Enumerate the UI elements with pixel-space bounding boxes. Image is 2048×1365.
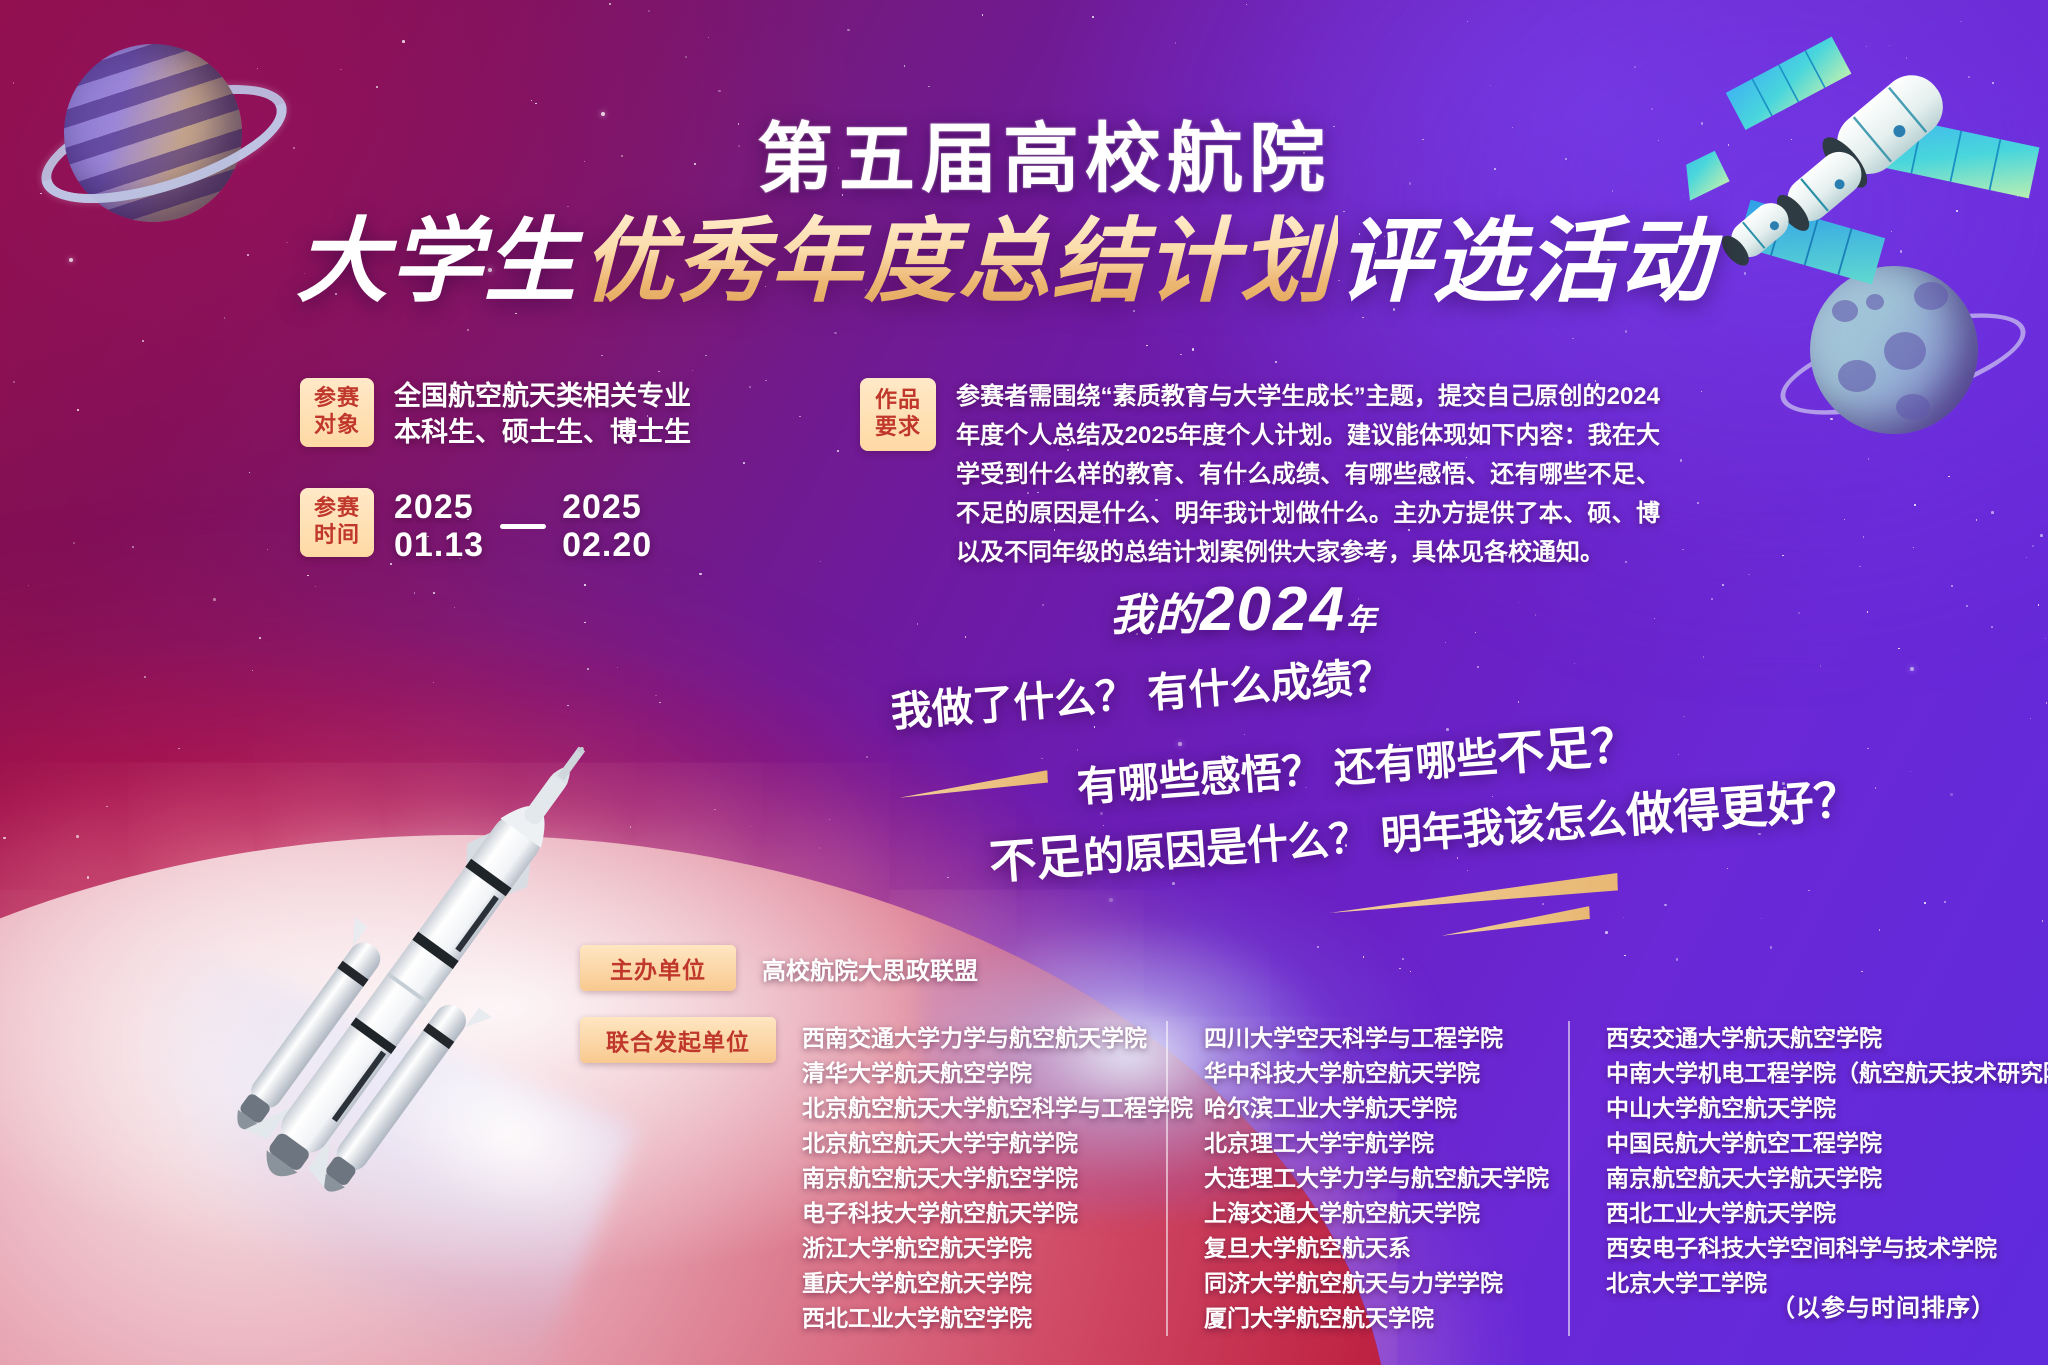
university-item: 中山大学航空航天学院: [1606, 1091, 2016, 1126]
requirement-row: 作品 要求 参赛者需围绕“素质教育与大学生成长”主题，提交自己原创的2024年度…: [860, 378, 1660, 572]
year-prefix: 我的: [1110, 591, 1200, 640]
university-column-2: 四川大学空天科学与工程学院华中科技大学航空航天学院哈尔滨工业大学航天学院北京理工…: [1166, 1021, 1568, 1336]
year-suffix: 年: [1346, 604, 1377, 637]
university-item: 北京航空航天大学宇航学院: [802, 1126, 1132, 1161]
university-item: 南京航空航天大学航天学院: [1606, 1161, 2016, 1196]
time-tag: 参赛 时间: [300, 488, 374, 557]
coinitiator-tag: 联合发起单位: [580, 1017, 776, 1063]
university-item: 北京理工大学宇航学院: [1204, 1126, 1534, 1161]
university-item: 南京航空航天大学航空学院: [802, 1161, 1132, 1196]
university-item: 华中科技大学航空航天学院: [1204, 1056, 1534, 1091]
requirement-tag-line-1: 作品: [860, 387, 936, 414]
question-2b: 还有哪些: [1332, 734, 1499, 792]
university-item: 西安交通大学航天航空学院: [1606, 1021, 2016, 1056]
audience-text-line-2: 本科生、硕士生、博士生: [394, 414, 691, 450]
audience-tag-line-2: 对象: [300, 412, 374, 439]
question-line-1: 我做了什么？ 有什么成绩？: [888, 642, 1394, 739]
reflection-questions-block: 我的2024年 我做了什么？ 有什么成绩？ 有哪些感悟？ 还有哪些不足？ 不足的…: [880, 578, 1900, 868]
university-item: 北京航空航天大学航空科学与工程学院: [802, 1091, 1132, 1126]
question-3a: 不足: [988, 829, 1086, 889]
university-item: 西安电子科技大学空间科学与技术学院: [1606, 1231, 2016, 1266]
host-tag: 主办单位: [580, 945, 736, 991]
start-date-block: 2025 01.13: [394, 488, 484, 564]
university-column-1: 西南交通大学力学与航空航天学院清华大学航天航空学院北京航空航天大学航空科学与工程…: [802, 1021, 1166, 1336]
university-item: 四川大学空天科学与工程学院: [1204, 1021, 1534, 1056]
university-item: 哈尔滨工业大学航天学院: [1204, 1091, 1534, 1126]
university-item: 浙江大学航空航天学院: [802, 1231, 1132, 1266]
university-item: 清华大学航天航空学院: [802, 1056, 1132, 1091]
university-item: 大连理工大学力学与航空航天学院: [1204, 1161, 1534, 1196]
end-date-block: 2025 02.20: [562, 488, 652, 564]
university-item: 同济大学航空航天与力学学院: [1204, 1266, 1534, 1301]
question-2a: 有哪些感悟？: [1076, 747, 1325, 811]
university-item: 中南大学机电工程学院（航空航天技术研究院）: [1606, 1056, 2016, 1091]
time-row: 参赛 时间 2025 01.13 2025 02.20: [300, 488, 820, 564]
gold-swoosh-3: [1440, 906, 1591, 936]
university-item: 重庆大学航空航天学院: [802, 1266, 1132, 1301]
audience-text-line-1: 全国航空航天类相关专业: [394, 378, 691, 414]
audience-row: 参赛 对象 全国航空航天类相关专业 本科生、硕士生、博士生: [300, 378, 820, 450]
university-item: 厦门大学航空航天学院: [1204, 1301, 1534, 1336]
date-range-dash: [500, 524, 546, 529]
end-year: 2025: [562, 488, 652, 526]
university-item: 复旦大学航空航天系: [1204, 1231, 1534, 1266]
year-number: 2024: [1200, 575, 1346, 644]
requirement-tag-line-2: 要求: [860, 414, 936, 441]
question-2c: 不足？: [1495, 717, 1640, 780]
question-1b: 有什么成绩？: [1146, 653, 1395, 717]
my-year-headline: 我的2024年: [1110, 574, 1377, 645]
info-right-column: 作品 要求 参赛者需围绕“素质教育与大学生成长”主题，提交自己原创的2024年度…: [860, 378, 1660, 598]
start-year: 2025: [394, 488, 484, 526]
time-tag-line-1: 参赛: [300, 495, 374, 522]
host-row: 主办单位 高校航院大思政联盟: [580, 945, 2000, 991]
host-value: 高校航院大思政联盟: [762, 945, 978, 986]
audience-tag: 参赛 对象: [300, 378, 374, 447]
rocket-illustration: [200, 690, 640, 1250]
headline-white-prefix: 大学生: [296, 211, 578, 313]
university-item: 电子科技大学航空航天学院: [802, 1196, 1132, 1231]
requirement-tag: 作品 要求: [860, 378, 936, 451]
university-item: 中国民航大学航空工程学院: [1606, 1126, 2016, 1161]
order-footnote: （以参与时间排序）: [1771, 1288, 1996, 1323]
question-3c: 明年我该怎么: [1379, 795, 1628, 859]
audience-tag-line-1: 参赛: [300, 385, 374, 412]
poster-canvas: 第五届高校航院 大学生优秀年度总结计划评选活动 参赛 对象 全国航空航天类相关专…: [0, 0, 2048, 1365]
contest-date-range: 2025 01.13 2025 02.20: [394, 488, 652, 564]
requirement-text: 参赛者需围绕“素质教育与大学生成长”主题，提交自己原创的2024年度个人总结及2…: [956, 378, 1660, 572]
university-item: 西南交通大学力学与航空航天学院: [802, 1021, 1132, 1056]
audience-text: 全国航空航天类相关专业 本科生、硕士生、博士生: [394, 378, 691, 450]
start-day: 01.13: [394, 526, 484, 564]
time-tag-line-2: 时间: [300, 522, 374, 549]
ringed-planet-icon: [48, 28, 258, 238]
end-day: 02.20: [562, 526, 652, 564]
question-3d: 做得更好？: [1624, 772, 1862, 842]
question-1a: 我做了什么？: [889, 671, 1138, 735]
gold-swoosh-1: [898, 770, 1049, 798]
university-item: 上海交通大学航空航天学院: [1204, 1196, 1534, 1231]
info-left-column: 参赛 对象 全国航空航天类相关专业 本科生、硕士生、博士生 参赛 时间 2025…: [300, 378, 820, 591]
university-item: 西北工业大学航空学院: [802, 1301, 1132, 1336]
university-item: 西北工业大学航天学院: [1606, 1196, 2016, 1231]
space-station-icon: [1673, 3, 2048, 341]
